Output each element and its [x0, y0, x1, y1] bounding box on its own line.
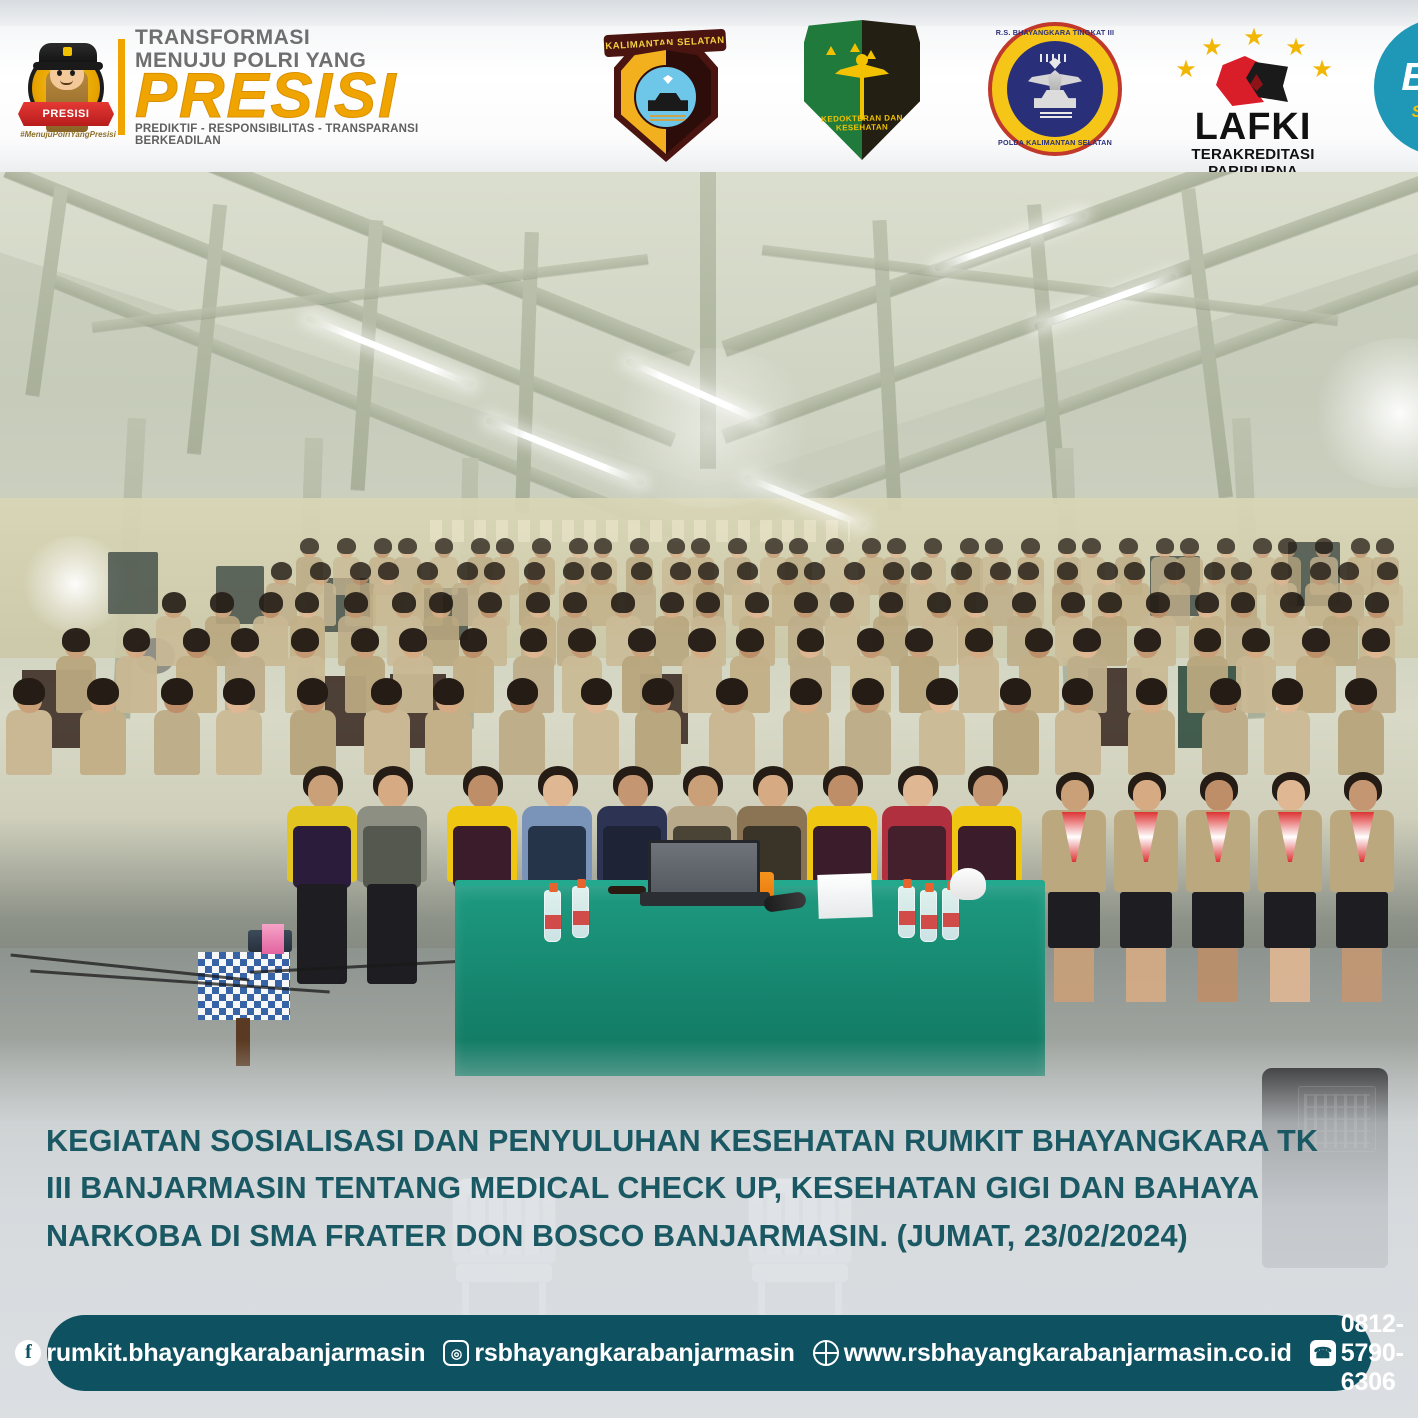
person-hair — [1204, 562, 1225, 580]
person-hair — [1242, 628, 1270, 652]
person-hair — [1195, 592, 1219, 613]
person-skirt — [1264, 892, 1316, 948]
person-hair — [630, 538, 649, 554]
logo-lafki: ★ ★ ★ ★ ★ LAFKI TERAKREDITASI PARIPURNA — [1158, 10, 1348, 170]
person-hair — [670, 562, 691, 580]
person-hair — [223, 678, 255, 705]
phone-number: 0812-5790-6306 — [1341, 1310, 1404, 1397]
person-face — [1277, 780, 1305, 811]
person-hair — [642, 678, 674, 705]
person-hair — [1231, 562, 1252, 580]
presisi-logo: PRESISI #MenujuPolriYangPresisi TRANSFOR… — [20, 22, 470, 152]
wing-right-icon — [1060, 74, 1082, 86]
logo-blu-speed: BLU SPEED — [1370, 10, 1418, 170]
caduceus-rod — [860, 58, 864, 120]
police-mascot-icon: PRESISI #MenujuPolriYangPresisi — [20, 28, 112, 146]
person-hair — [667, 538, 686, 554]
student-scout — [1256, 772, 1324, 1002]
globe-icon — [813, 1340, 839, 1366]
person-face — [1133, 780, 1161, 811]
caption-line-1: KEGIATAN SOSIALISASI DAN PENYULUHAN KESE… — [46, 1118, 1372, 1165]
person-hair — [887, 538, 906, 554]
audience-person — [154, 678, 200, 794]
person-face — [1205, 780, 1233, 811]
person-hair — [1057, 562, 1078, 580]
person-hair — [1365, 592, 1389, 613]
person-hair — [1280, 592, 1304, 613]
person-hair — [524, 562, 545, 580]
person-hair — [1097, 562, 1118, 580]
star-icon: ★ — [1174, 58, 1198, 82]
person-hair — [1231, 592, 1255, 613]
person-hair — [794, 592, 818, 613]
person-hair — [371, 678, 403, 705]
person-torso — [6, 710, 52, 775]
person-hair — [1278, 538, 1297, 554]
contact-footer-bar: f rumkit.bhayangkarabanjarmasin ◎ rsbhay… — [47, 1315, 1372, 1391]
person-hair — [911, 562, 932, 580]
person-legs — [1270, 948, 1310, 1002]
brand-header: PRESISI #MenujuPolriYangPresisi TRANSFOR… — [0, 0, 1418, 172]
person-hair — [736, 628, 764, 652]
person-torso — [1264, 710, 1310, 775]
person-hair — [698, 562, 719, 580]
contact-phone[interactable]: ☎ 0812-5790-6306 — [1310, 1310, 1404, 1397]
caduceus-wing-right — [863, 64, 889, 78]
star-icon — [850, 43, 860, 52]
person-face — [543, 775, 573, 808]
person-hair — [1180, 538, 1199, 554]
instagram-handle: rsbhayangkarabanjarmasin — [474, 1339, 794, 1368]
person-hair — [581, 678, 613, 705]
person-hair — [310, 562, 331, 580]
presisi-wordmark: PRESISI — [135, 69, 470, 124]
tissue-box — [817, 873, 873, 919]
student-scout — [1112, 772, 1180, 1002]
wave-icon — [650, 115, 686, 122]
presisi-text-block: TRANSFORMASI MENUJU POLRI YANG PRESISI P… — [135, 27, 470, 146]
person-face — [1061, 780, 1089, 811]
person-hair — [1025, 628, 1053, 652]
person-torso — [709, 710, 755, 775]
person-hair — [398, 538, 417, 554]
contact-instagram[interactable]: ◎ rsbhayangkarabanjarmasin — [443, 1339, 794, 1368]
person-face — [1349, 780, 1377, 811]
blu-title: BLU — [1374, 58, 1418, 97]
caduceus-icon — [837, 54, 887, 120]
person-face — [903, 775, 933, 808]
logo-kedokteran-kesehatan: KEDOKTERAN DAN KESEHATAN — [792, 10, 932, 170]
person-hair — [295, 592, 319, 613]
person-hair — [457, 562, 478, 580]
presisi-line-1: TRANSFORMASI — [135, 27, 470, 48]
pink-item — [262, 924, 284, 954]
person-legs — [1054, 948, 1094, 1002]
person-hair — [291, 628, 319, 652]
contact-website[interactable]: www.rsbhayangkarabanjarmasin.co.id — [813, 1339, 1292, 1368]
person-torso — [573, 710, 619, 775]
person-hair — [1062, 678, 1094, 705]
mascot-eye-left — [57, 70, 62, 76]
person-hair — [1119, 538, 1138, 554]
dental-model — [950, 868, 986, 900]
person-torso — [425, 710, 471, 775]
person-hair — [1098, 592, 1122, 613]
person-hair — [507, 678, 539, 705]
person-skirt — [1192, 892, 1244, 948]
contact-facebook[interactable]: f rumkit.bhayangkarabanjarmasin — [15, 1339, 425, 1368]
person-vest — [293, 826, 351, 888]
person-hair — [1061, 592, 1085, 613]
person-hair — [1082, 538, 1101, 554]
person-torso — [845, 710, 891, 775]
person-hair — [990, 562, 1011, 580]
lafki-bird-icon — [1216, 52, 1288, 110]
person-hair — [611, 592, 635, 613]
person-hair — [460, 628, 488, 652]
wing-left-icon — [1028, 74, 1050, 86]
person-hair — [830, 592, 854, 613]
rs-emblem — [1026, 56, 1084, 122]
diamond-icon — [663, 75, 673, 84]
person-torso — [290, 710, 336, 775]
banjar-house-icon — [1034, 90, 1076, 108]
rs-top-text: R.S. BHAYANGKARA TINGKAT III — [988, 28, 1122, 37]
person-hair — [926, 678, 958, 705]
lafki-title: LAFKI — [1158, 108, 1348, 146]
person-hair — [862, 538, 881, 554]
person-torso — [364, 710, 410, 775]
person-hair — [1310, 562, 1331, 580]
person-hair — [532, 538, 551, 554]
person-hair — [417, 562, 438, 580]
person-hair — [1315, 538, 1334, 554]
audience-person — [6, 678, 52, 794]
person-hair — [691, 538, 710, 554]
person-hair — [789, 538, 808, 554]
person-hair — [964, 592, 988, 613]
person-hair — [826, 538, 845, 554]
person-hair — [1253, 538, 1272, 554]
presisi-divider — [118, 39, 125, 135]
person-hair — [594, 538, 613, 554]
student-scout — [1040, 772, 1108, 1002]
person-hair — [378, 562, 399, 580]
person-face — [688, 775, 718, 808]
facebook-handle: rumkit.bhayangkarabanjarmasin — [46, 1339, 425, 1368]
person-hair — [1345, 678, 1377, 705]
person-hair — [520, 628, 548, 652]
person-hair — [804, 562, 825, 580]
person-hair — [660, 592, 684, 613]
poster: KEGIATAN SOSIALISASI DAN PENYULUHAN KESE… — [0, 0, 1418, 1418]
person-hair — [433, 678, 465, 705]
person-hair — [688, 628, 716, 652]
facebook-icon: f — [15, 1340, 41, 1366]
person-hair — [905, 628, 933, 652]
person-hair — [1018, 562, 1039, 580]
person-hair — [484, 562, 505, 580]
person-hair — [526, 592, 550, 613]
star-icon — [826, 46, 836, 55]
star-icon: ★ — [1310, 58, 1334, 82]
person-hair — [628, 628, 656, 652]
website-url: www.rsbhayangkarabanjarmasin.co.id — [844, 1339, 1292, 1368]
person-hair — [1376, 538, 1395, 554]
phone-icon: ☎ — [1310, 1340, 1336, 1366]
caption-block: KEGIATAN SOSIALISASI DAN PENYULUHAN KESE… — [46, 1118, 1372, 1260]
audience-person — [80, 678, 126, 794]
person-skirt — [1120, 892, 1172, 948]
person-hair — [1210, 678, 1242, 705]
person-hair — [1351, 538, 1370, 554]
person-hair — [765, 538, 784, 554]
person-hair — [62, 628, 90, 652]
caption-line-3: NARKOBA DI SMA FRATER DON BOSCO BANJARMA… — [46, 1213, 1372, 1260]
person-hair — [435, 538, 454, 554]
kedokteran-arc-text: KEDOKTERAN DAN KESEHATAN — [806, 113, 918, 133]
person-hair — [927, 592, 951, 613]
person-hair — [797, 628, 825, 652]
person-hair — [1194, 628, 1222, 652]
polda-emblem-circle — [634, 65, 698, 129]
person-hair — [471, 538, 490, 554]
banjar-house-icon — [648, 93, 688, 111]
person-hair — [1362, 628, 1390, 652]
person-hair — [183, 628, 211, 652]
person-hair — [231, 628, 259, 652]
person-hair — [1146, 592, 1170, 613]
person-hair — [1124, 562, 1145, 580]
person-vest — [888, 826, 946, 888]
person-hair — [1156, 538, 1175, 554]
person-hair — [1271, 562, 1292, 580]
person-torso — [1202, 710, 1248, 775]
person-skirt — [1048, 892, 1100, 948]
lafki-subtitle: TERAKREDITASI PARIPURNA — [1158, 146, 1348, 172]
person-hair — [1164, 562, 1185, 580]
person-hair — [13, 678, 45, 705]
person-hair — [790, 678, 822, 705]
person-torso — [1128, 710, 1174, 775]
person-hair — [852, 678, 884, 705]
person-hair — [716, 678, 748, 705]
person-hair — [1328, 592, 1352, 613]
person-hair — [1012, 592, 1036, 613]
person-hair — [429, 592, 453, 613]
person-hair — [496, 538, 515, 554]
person-hair — [478, 592, 502, 613]
person-face — [468, 775, 498, 808]
person-hair — [591, 562, 612, 580]
student-scout — [1184, 772, 1252, 1002]
person-hair — [777, 562, 798, 580]
person-face — [828, 775, 858, 808]
person-hair — [300, 538, 319, 554]
person-hair — [374, 538, 393, 554]
person-hair — [123, 628, 151, 652]
caduceus-wing-left — [835, 64, 861, 78]
person-hair — [1021, 538, 1040, 554]
person-hair — [1302, 628, 1330, 652]
person-torso — [216, 710, 262, 775]
person-hair — [879, 592, 903, 613]
person-hair — [399, 628, 427, 652]
person-hair — [161, 678, 193, 705]
person-hair — [965, 628, 993, 652]
person-hair — [1058, 538, 1077, 554]
light-glare — [600, 348, 820, 508]
person-vest — [363, 826, 421, 888]
person-hair — [271, 562, 292, 580]
person-hair — [569, 538, 588, 554]
water-bottle — [920, 890, 937, 942]
mascot-eye-right — [70, 70, 75, 76]
person-face — [973, 775, 1003, 808]
accreditation-logos: KALIMANTAN SELATAN — [580, 10, 1406, 170]
person-hair — [745, 592, 769, 613]
person-hair — [985, 538, 1004, 554]
person-torso — [1055, 710, 1101, 775]
person-hair — [259, 592, 283, 613]
person-torso — [80, 710, 126, 775]
student-scout — [1328, 772, 1396, 1002]
person-face — [618, 775, 648, 808]
caption-line-2: III BANJARMASIN TENTANG MEDICAL CHECK UP… — [46, 1165, 1372, 1212]
blu-subtitle: SPEED — [1374, 102, 1418, 122]
person-hair — [563, 592, 587, 613]
person-torso — [154, 710, 200, 775]
person-hair — [351, 628, 379, 652]
presisi-ribbon: PRESISI — [18, 102, 114, 126]
person-hair — [1217, 538, 1236, 554]
person-hair — [210, 592, 234, 613]
front-row-person — [285, 766, 359, 996]
person-hair — [960, 538, 979, 554]
person-hair — [568, 628, 596, 652]
logo-polda-kalsel: KALIMANTAN SELATAN — [590, 10, 740, 170]
person-hair — [344, 592, 368, 613]
person-torso — [499, 710, 545, 775]
person-hair — [337, 538, 356, 554]
person-torso — [1338, 710, 1384, 775]
person-legs — [1126, 948, 1166, 1002]
person-hair — [297, 678, 329, 705]
person-legs — [1342, 948, 1382, 1002]
person-hair — [162, 592, 186, 613]
person-legs — [1198, 948, 1238, 1002]
person-skirt — [1336, 892, 1388, 948]
person-hair — [1134, 628, 1162, 652]
cap-badge-icon — [63, 47, 72, 56]
presisi-tagline: PREDIKTIF - RESPONSIBILITAS - TRANSPARAN… — [135, 123, 470, 147]
person-torso — [783, 710, 829, 775]
water-bottle — [572, 886, 589, 938]
person-hair — [1338, 562, 1359, 580]
audience-crowd — [0, 528, 1418, 858]
person-hair — [924, 538, 943, 554]
water-bottle — [898, 886, 915, 938]
person-hair — [728, 538, 747, 554]
instagram-icon: ◎ — [443, 1340, 469, 1366]
person-face — [308, 775, 338, 808]
person-hair — [1377, 562, 1398, 580]
person-hair — [844, 562, 865, 580]
logo-rs-bhayangkara: R.S. BHAYANGKARA TINGKAT III POLDA KALIM… — [978, 10, 1128, 170]
person-hair — [951, 562, 972, 580]
person-hair — [883, 562, 904, 580]
person-hair — [1136, 678, 1168, 705]
person-hair — [857, 628, 885, 652]
laptop-screen — [648, 840, 760, 896]
person-face — [758, 775, 788, 808]
person-hair — [1073, 628, 1101, 652]
person-hair — [737, 562, 758, 580]
laptop-keyboard — [640, 892, 770, 906]
person-hair — [87, 678, 119, 705]
person-hair — [631, 562, 652, 580]
person-torso — [919, 710, 965, 775]
wave-icon — [1040, 112, 1072, 120]
person-torso — [993, 710, 1039, 775]
person-hair — [392, 592, 416, 613]
person-hair — [696, 592, 720, 613]
person-hair — [350, 562, 371, 580]
water-bottle — [544, 890, 561, 942]
person-hair — [1272, 678, 1304, 705]
person-hair — [563, 562, 584, 580]
presisi-hashtag: #MenujuPolriYangPresisi — [16, 130, 120, 139]
star-icon: ★ — [1242, 26, 1266, 50]
person-trousers — [367, 884, 417, 984]
person-torso — [635, 710, 681, 775]
person-vest — [453, 826, 511, 888]
person-face — [378, 775, 408, 808]
person-hair — [1000, 678, 1032, 705]
audience-person — [216, 678, 262, 794]
